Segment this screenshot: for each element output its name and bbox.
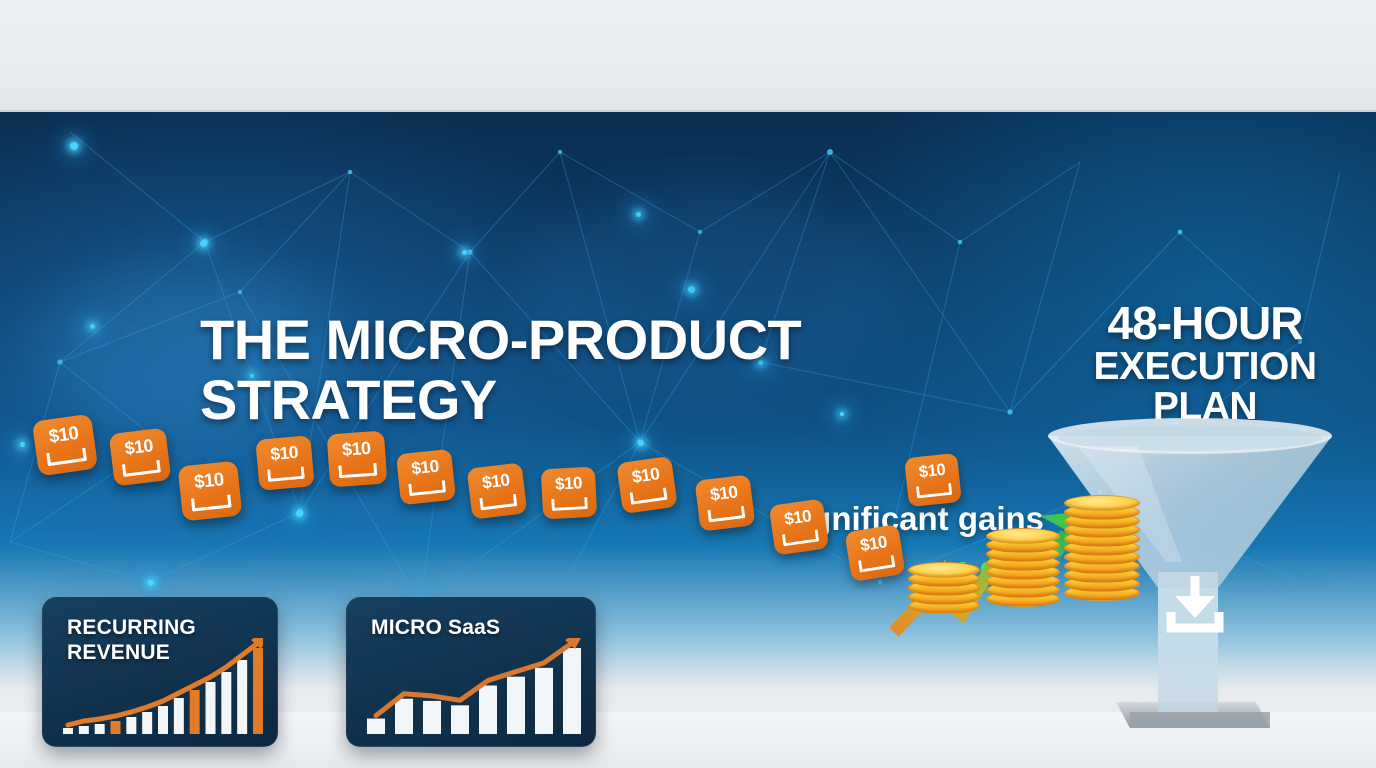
secondary-title: 48-HOUR EXECUTION PLAN <box>1055 300 1355 426</box>
glow-node <box>20 442 25 447</box>
chart-bar <box>63 728 73 734</box>
price-tile: $10 <box>396 449 456 505</box>
chart-bar <box>395 699 413 734</box>
secondary-title-line-2: EXECUTION <box>1055 347 1355 387</box>
price-tile-underline <box>191 494 232 511</box>
coin <box>1064 495 1140 511</box>
info-card-bar-chart <box>63 638 263 734</box>
price-tile-underline <box>916 483 952 498</box>
coin <box>986 528 1060 544</box>
price-tile: $10 <box>467 462 528 519</box>
chart-bar <box>535 668 553 734</box>
price-tile: $10 <box>109 427 172 486</box>
glow-node <box>70 142 78 150</box>
price-tile-label: $10 <box>541 473 596 496</box>
coin <box>908 562 980 578</box>
price-tile-underline <box>630 487 668 504</box>
price-tile: $10 <box>541 467 598 520</box>
chart-bar <box>111 721 121 734</box>
price-tile: $10 <box>255 435 314 491</box>
price-tile-label: $10 <box>770 504 826 531</box>
coin-stack <box>1064 495 1138 608</box>
chart-bar <box>206 682 216 734</box>
chart-bar <box>190 690 200 734</box>
price-tile: $10 <box>616 456 678 514</box>
title-line-2: STRATEGY <box>200 370 900 430</box>
chart-bar <box>79 726 89 734</box>
chart-bar <box>158 706 168 734</box>
glow-node <box>462 250 467 255</box>
price-tile-underline <box>338 463 377 478</box>
glow-node <box>636 212 641 217</box>
info-card[interactable]: RECURRINGREVENUE <box>42 597 278 747</box>
info-card[interactable]: MICRO SaaS <box>346 597 596 747</box>
price-tile-label: $10 <box>397 455 454 481</box>
price-tile-label: $10 <box>617 462 674 490</box>
download-icon[interactable] <box>1162 572 1228 636</box>
price-tile-label: $10 <box>256 441 313 466</box>
price-tile-label: $10 <box>467 468 524 495</box>
price-tile-underline <box>707 506 745 523</box>
chart-bar <box>563 648 581 734</box>
glow-node <box>200 240 207 247</box>
price-tile-label: $10 <box>178 467 239 495</box>
price-tile: $10 <box>904 453 962 507</box>
chart-bar <box>367 719 385 734</box>
glow-node <box>148 580 154 586</box>
chart-bar <box>126 717 136 734</box>
chart-bar <box>507 677 525 734</box>
price-tile: $10 <box>178 461 243 522</box>
price-tile-underline <box>408 480 446 496</box>
price-tile: $10 <box>327 431 388 488</box>
price-tile-label: $10 <box>109 434 168 462</box>
chart-bar <box>451 705 469 734</box>
chart-bar <box>237 660 247 734</box>
chart-bar <box>174 698 184 734</box>
price-tile-underline <box>479 494 517 511</box>
slide-canvas: THE MICRO-PRODUCT STRATEGY 48-HOUR EXECU… <box>0 0 1376 768</box>
price-tile-label: $10 <box>905 459 960 484</box>
price-tile-underline <box>267 466 305 481</box>
price-tile-label: $10 <box>695 480 752 507</box>
glow-node <box>638 440 644 446</box>
glow-node <box>296 510 303 517</box>
chart-bar <box>95 724 105 734</box>
chart-bar <box>479 685 497 734</box>
chart-bar <box>221 672 231 734</box>
title-line-1: THE MICRO-PRODUCT <box>200 310 900 370</box>
price-tile: $10 <box>695 474 756 531</box>
glow-node <box>90 324 95 329</box>
chart-bar <box>423 701 441 734</box>
price-tile: $10 <box>32 414 98 477</box>
price-tile-underline <box>46 448 87 467</box>
price-tile-underline <box>551 497 588 511</box>
hero-panel: THE MICRO-PRODUCT STRATEGY 48-HOUR EXECU… <box>0 112 1376 768</box>
info-card-bar-chart <box>367 638 581 734</box>
price-tile-underline <box>122 460 161 477</box>
coin-stack <box>986 528 1058 614</box>
coin-stack <box>908 562 978 621</box>
price-tile-label: $10 <box>327 437 386 462</box>
top-strip <box>0 0 1376 112</box>
chart-bar <box>253 648 263 734</box>
secondary-title-line-1: 48-HOUR <box>1055 300 1355 347</box>
price-tile: $10 <box>769 498 829 555</box>
glow-node <box>688 286 695 293</box>
price-tile-label: $10 <box>33 420 95 450</box>
page-title: THE MICRO-PRODUCT STRATEGY <box>200 310 900 431</box>
price-tile-underline <box>782 529 819 546</box>
chart-bar <box>142 712 152 734</box>
